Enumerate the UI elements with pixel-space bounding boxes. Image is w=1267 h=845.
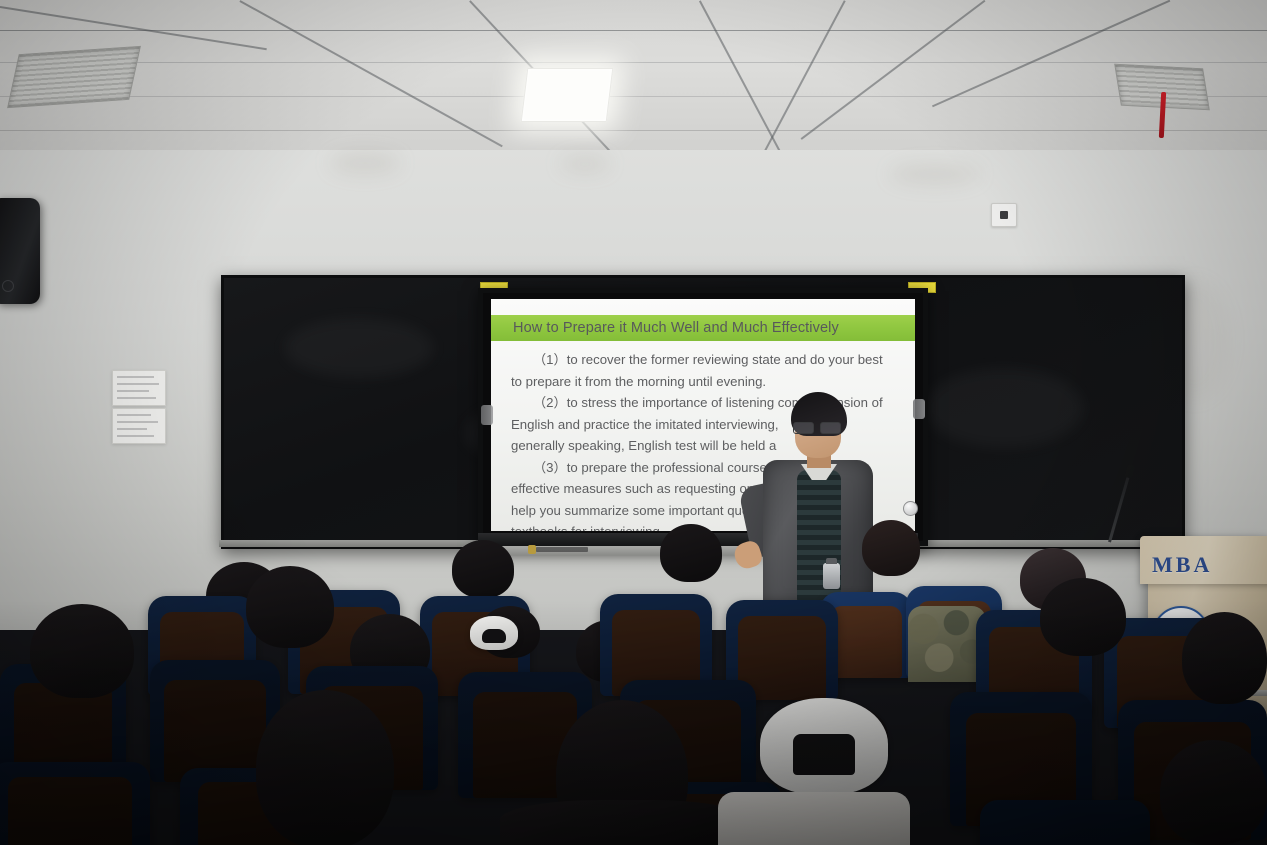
audience-head bbox=[1040, 578, 1126, 656]
lecture-hall-photo: How to Prepare it Much Well and Much Eff… bbox=[0, 0, 1267, 845]
screen-knob-icon[interactable] bbox=[528, 545, 536, 554]
audience-shoulders bbox=[500, 800, 750, 845]
audience-head bbox=[246, 566, 334, 648]
screen-handle-right-icon[interactable] bbox=[913, 399, 925, 419]
audience-head bbox=[862, 520, 920, 576]
slide-title-bar: How to Prepare it Much Well and Much Eff… bbox=[491, 315, 915, 341]
screen-brand-label bbox=[536, 547, 588, 552]
wall-speaker bbox=[0, 198, 40, 304]
screen-button-right-icon[interactable] bbox=[903, 501, 918, 516]
audience-head-front-left bbox=[256, 690, 394, 845]
audience-white-cap bbox=[760, 698, 888, 794]
audience-head bbox=[1182, 612, 1267, 704]
water-bottle bbox=[823, 563, 840, 589]
wall-notice-lower bbox=[112, 408, 166, 444]
audience-white-jacket bbox=[718, 792, 910, 845]
screen-handle-left-icon[interactable] bbox=[481, 405, 493, 425]
seat[interactable] bbox=[0, 762, 150, 845]
glasses-icon bbox=[793, 422, 841, 432]
podium-label: MBA bbox=[1152, 552, 1212, 578]
slide-line-1: （1）to recover the former reviewing state… bbox=[511, 349, 901, 371]
ceiling bbox=[0, 0, 1267, 168]
ceiling-light-panel bbox=[521, 68, 614, 122]
air-vent-left bbox=[7, 46, 141, 108]
seat[interactable] bbox=[980, 800, 1150, 845]
audience-head bbox=[30, 604, 134, 698]
audience-head bbox=[660, 524, 722, 582]
wall-notice-upper bbox=[112, 370, 166, 406]
audience-head bbox=[452, 540, 514, 598]
slide-line-2: to prepare it from the morning until eve… bbox=[511, 371, 901, 393]
presenter bbox=[735, 392, 880, 607]
audience-camo-jacket bbox=[908, 606, 986, 682]
slide-title: How to Prepare it Much Well and Much Eff… bbox=[513, 320, 839, 336]
audience-head bbox=[1160, 740, 1267, 845]
wall-socket[interactable] bbox=[991, 203, 1017, 227]
audience-beige-cap bbox=[470, 616, 518, 650]
